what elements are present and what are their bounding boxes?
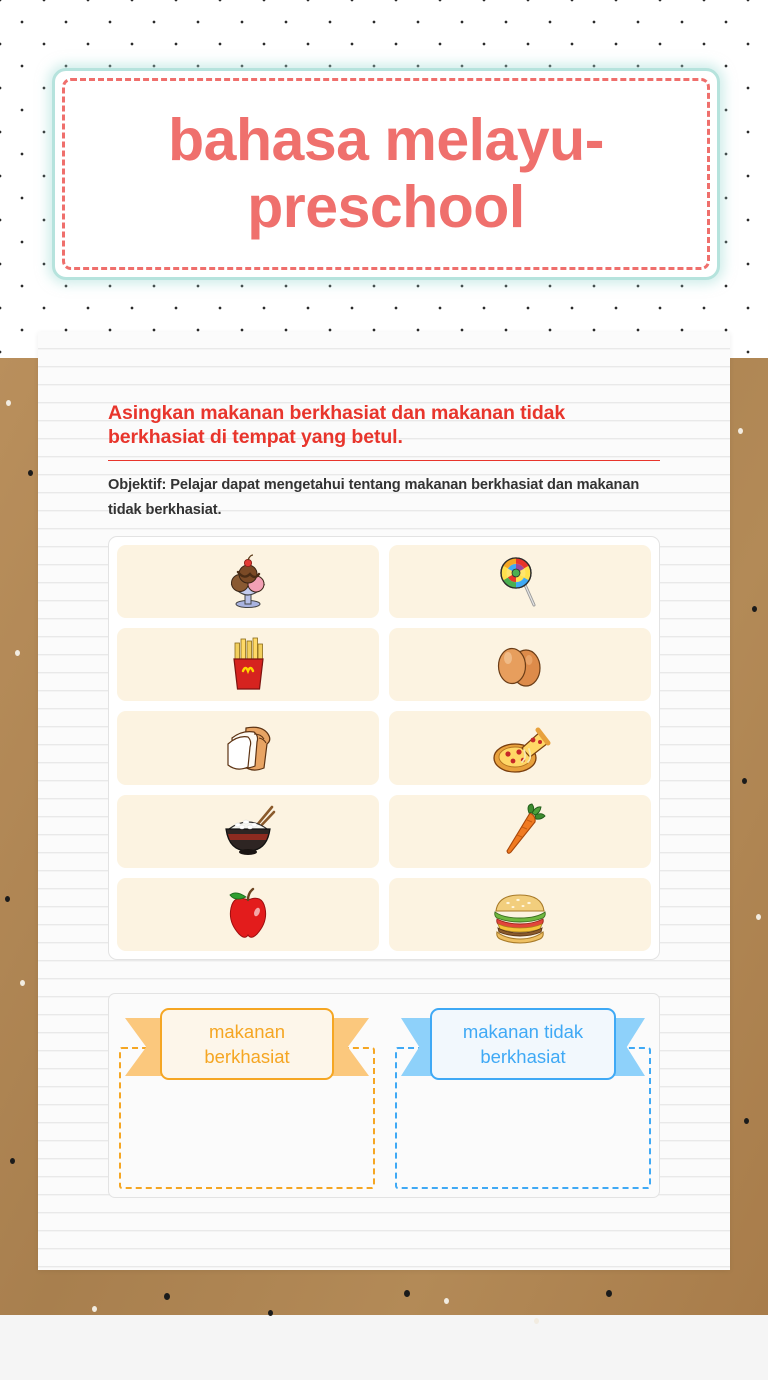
kraft-speck [164, 1293, 170, 1300]
food-cell-ice-cream-sundae[interactable] [117, 545, 379, 618]
kraft-speck [28, 470, 33, 476]
food-cell-eggs[interactable] [389, 628, 651, 701]
food-cell-hamburger[interactable] [389, 878, 651, 951]
dropzone-makanan-berkhasiat[interactable]: makanan berkhasiat [113, 994, 381, 1199]
food-cell-pizza[interactable] [389, 711, 651, 784]
kraft-speck [6, 400, 11, 406]
food-cell-carrot[interactable] [389, 795, 651, 868]
kraft-speck [738, 428, 743, 434]
sliced-bread-icon [216, 718, 280, 778]
food-image-grid [108, 536, 660, 960]
objective-text: Objektif: Pelajar dapat mengetahui tenta… [108, 473, 660, 522]
ribbon-banner-blue: makanan tidak berkhasiat [401, 1008, 645, 1080]
eggs-icon [488, 635, 552, 695]
kraft-speck [534, 1318, 539, 1324]
kraft-speck [444, 1298, 449, 1304]
instruction-divider [108, 460, 660, 462]
food-cell-apple[interactable] [117, 878, 379, 951]
food-cell-lollipop[interactable] [389, 545, 651, 618]
apple-icon [216, 884, 280, 944]
kraft-speck [606, 1290, 612, 1297]
french-fries-icon [216, 635, 280, 695]
dropzone-makanan-tidak-berkhasiat[interactable]: makanan tidak berkhasiat [389, 994, 657, 1199]
kraft-speck [404, 1290, 410, 1297]
dropzone-label-tidak-berkhasiat: makanan tidak berkhasiat [430, 1008, 616, 1080]
instruction-block: Asingkan makanan berkhasiat dan makanan … [108, 402, 660, 522]
kraft-speck [5, 896, 10, 902]
kraft-speck [268, 1310, 273, 1316]
rice-bowl-icon [216, 801, 280, 861]
dropzone-label-berkhasiat: makanan berkhasiat [160, 1008, 334, 1080]
kraft-speck [15, 650, 20, 656]
ice-cream-sundae-icon [216, 552, 280, 612]
food-cell-french-fries[interactable] [117, 628, 379, 701]
sorting-dropzone-card: makanan berkhasiat makanan tidak berkhas… [108, 993, 660, 1198]
kraft-speck [752, 606, 757, 612]
pizza-icon [488, 718, 552, 778]
dropzone-row: makanan berkhasiat makanan tidak berkhas… [109, 994, 661, 1199]
kraft-speck [756, 914, 761, 920]
worksheet-page: bahasa melayu-preschool Asingkan makanan… [0, 0, 768, 1380]
title-card: bahasa melayu-preschool [52, 68, 720, 280]
page-title: bahasa melayu-preschool [55, 107, 717, 242]
kraft-speck [10, 1158, 15, 1164]
ribbon-banner-orange: makanan berkhasiat [125, 1008, 369, 1080]
hamburger-icon [488, 884, 552, 944]
lollipop-icon [488, 552, 552, 612]
kraft-speck [742, 778, 747, 784]
carrot-icon [488, 801, 552, 861]
kraft-speck [744, 1118, 749, 1124]
instruction-heading: Asingkan makanan berkhasiat dan makanan … [108, 402, 660, 450]
food-cell-rice-bowl[interactable] [117, 795, 379, 868]
kraft-speck [92, 1306, 97, 1312]
food-cell-sliced-bread[interactable] [117, 711, 379, 784]
kraft-speck [20, 980, 25, 986]
